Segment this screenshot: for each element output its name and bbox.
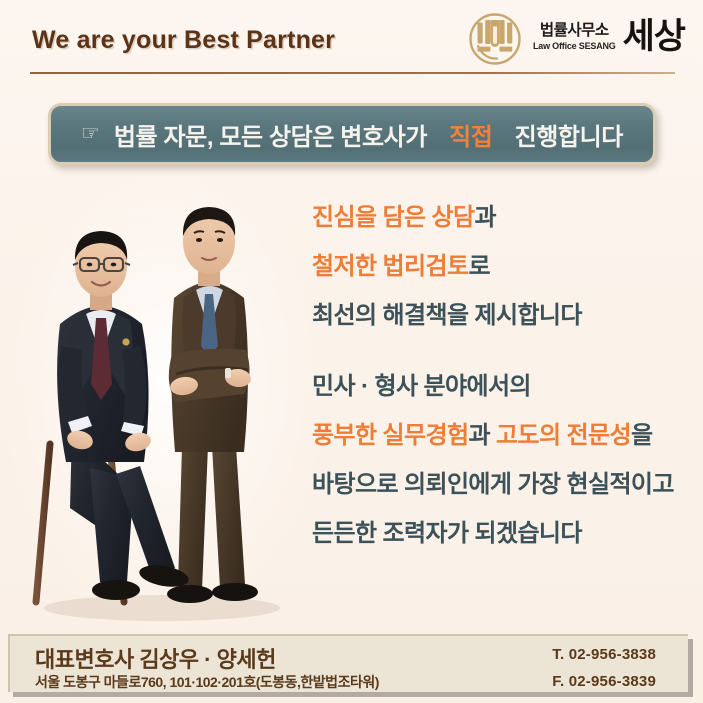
copy-segment: 로 bbox=[468, 253, 489, 280]
logo-korean-label: 법률사무소 bbox=[540, 23, 609, 39]
lawyers-photo bbox=[12, 178, 317, 630]
footer-telephone[interactable]: T. 02-956-3838 bbox=[552, 646, 656, 663]
logo[interactable]: 법률사무소 Law Office SESANG 세상 bbox=[466, 9, 685, 69]
logo-text-block: 법률사무소 Law Office SESANG bbox=[533, 23, 616, 54]
copy-line: 바탕으로 의뢰인에게 가장 현실적이고 bbox=[312, 473, 692, 497]
copy-segment: 바탕으로 의뢰인에게 가장 현실적이고 bbox=[312, 471, 674, 498]
footer-lawyer-names: 대표변호사 김상우 · 양세헌 bbox=[35, 642, 276, 674]
copy-line: 철저한 법리검토로 bbox=[312, 255, 692, 279]
copy-line: 최선의 해결책을 제시합니다 bbox=[312, 304, 692, 328]
copy-block-1: 진심을 담은 상담과 철저한 법리검토로 최선의 해결책을 제시합니다 bbox=[312, 206, 692, 328]
footer-fax: F. 02-956-3839 bbox=[552, 673, 656, 690]
copy-block-2: 민사 · 형사 분야에서의 풍부한 실무경험과 고도의 전문성을 바탕으로 의뢰… bbox=[312, 375, 692, 546]
copy-column: 진심을 담은 상담과 철저한 법리검토로 최선의 해결책을 제시합니다 민사 ·… bbox=[312, 206, 692, 571]
copy-segment: 최선의 해결책을 제시합니다 bbox=[312, 302, 582, 329]
copy-segment: 풍부한 실무경험 bbox=[312, 422, 468, 449]
headline-banner: ☞ 법률 자문, 모든 상담은 변호사가ㅤ직접ㅤ진행합니다 bbox=[48, 103, 656, 165]
copy-segment: 민사 · 형사 분야에서의 bbox=[312, 373, 531, 400]
copy-segment: 든든한 조력자가 되겠습니다 bbox=[312, 520, 582, 547]
copy-segment: 진심을 담은 상담 bbox=[312, 204, 475, 231]
logo-english-label: Law Office SESANG bbox=[533, 42, 616, 51]
banner-text-highlight: 직접 bbox=[449, 124, 492, 151]
banner-text-after: ㅤ진행합니다 bbox=[492, 124, 622, 151]
copy-line: 든든한 조력자가 되겠습니다 bbox=[312, 522, 692, 546]
copy-block-spacer bbox=[312, 353, 692, 375]
copy-segment: 과 bbox=[475, 204, 496, 231]
copy-segment: 철저한 법리검토 bbox=[312, 253, 468, 280]
footer-address: 서울 도봉구 마들로760, 101·102·201호(도봉동,한밭법조타워) bbox=[35, 672, 379, 692]
page-title: We are your Best Partner bbox=[32, 26, 335, 55]
copy-segment: 과 bbox=[468, 422, 496, 449]
advertisement-banner: We are your Best Partner bbox=[0, 0, 703, 703]
logo-wordmark: 법률사무소 Law Office SESANG 세상 bbox=[533, 21, 685, 56]
copy-line: 풍부한 실무경험과 고도의 전문성을 bbox=[312, 424, 692, 448]
header-divider bbox=[30, 72, 675, 74]
copy-segment: 고도의 전문성 bbox=[496, 422, 631, 449]
copy-line: 진심을 담은 상담과 bbox=[312, 206, 692, 230]
copy-segment: 을 bbox=[631, 422, 652, 449]
pointing-hand-icon: ☞ bbox=[81, 123, 100, 144]
headline-banner-text: 법률 자문, 모든 상담은 변호사가ㅤ직접ㅤ진행합니다 bbox=[114, 117, 623, 152]
footer: 대표변호사 김상우 · 양세헌 서울 도봉구 마들로760, 101·102·2… bbox=[8, 634, 688, 692]
logo-brand-name: 세상 bbox=[623, 21, 685, 53]
sesang-circle-emblem-icon bbox=[466, 10, 524, 68]
banner-text-before: 법률 자문, 모든 상담은 변호사가ㅤ bbox=[114, 124, 449, 151]
copy-line: 민사 · 형사 분야에서의 bbox=[312, 375, 692, 399]
header: We are your Best Partner bbox=[0, 0, 703, 74]
